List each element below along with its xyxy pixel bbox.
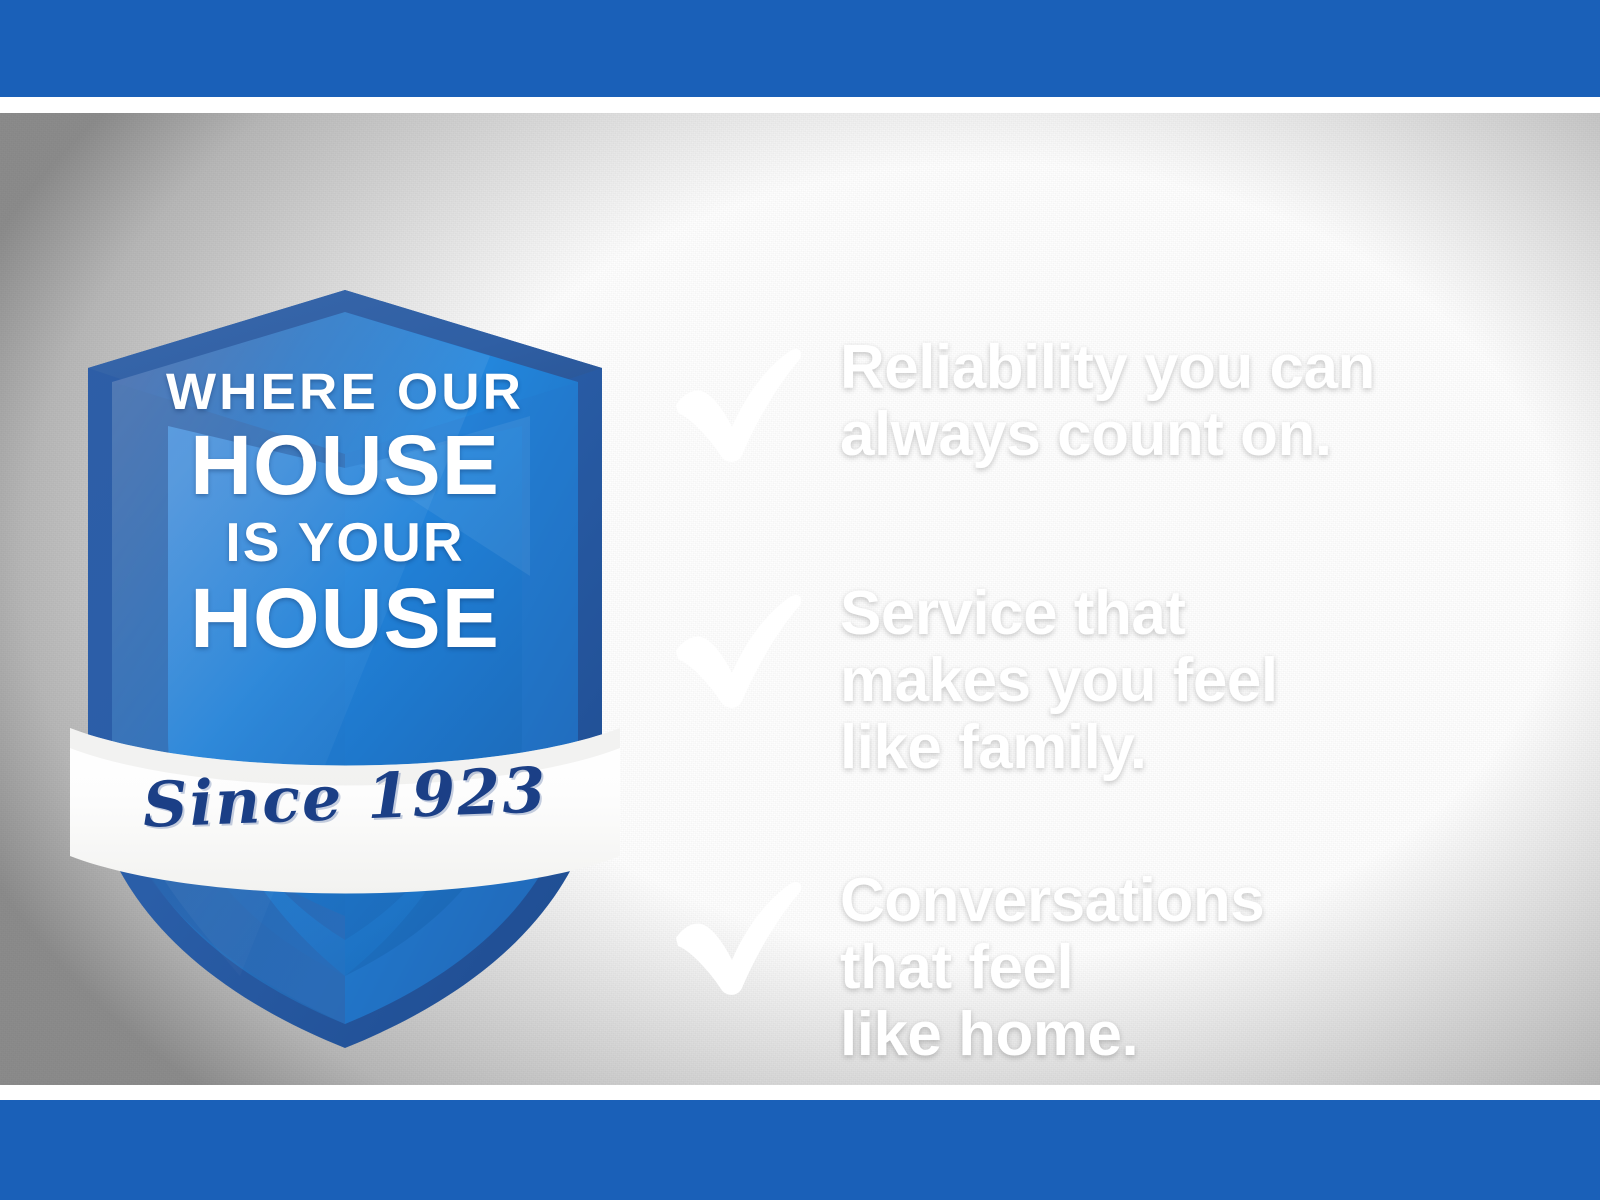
benefit-3-line-2: that feel <box>840 935 1548 1002</box>
benefits-list: Reliability you can always count on. Ser… <box>668 313 1548 1069</box>
badge-line-3: IS YOUR <box>60 515 630 570</box>
benefit-2-line-3: like family. <box>840 715 1548 782</box>
bottom-brand-bar <box>0 1100 1600 1200</box>
benefit-3-line-3: like home. <box>840 1002 1548 1069</box>
benefit-2-line-2: makes you feel <box>840 648 1548 715</box>
checkmark-icon <box>668 876 808 998</box>
badge-lockup: WHERE OUR HOUSE IS YOUR HOUSE <box>60 366 630 660</box>
benefit-1-line-1: Reliability you can <box>840 335 1548 402</box>
benefit-1-line-2: always count on. <box>840 402 1548 469</box>
benefit-2-line-1: Service that <box>840 581 1548 648</box>
badge-line-4: HOUSE <box>54 576 635 660</box>
benefit-text-1: Reliability you can always count on. <box>840 335 1548 469</box>
top-brand-bar <box>0 0 1600 97</box>
benefit-text-2: Service that makes you feel like family. <box>840 581 1548 782</box>
benefit-text-3: Conversations that feel like home. <box>840 868 1548 1069</box>
content-stage: WHERE OUR HOUSE IS YOUR HOUSE Since 1923 <box>0 113 1600 1085</box>
benefit-item-2: Service that makes you feel like family. <box>668 581 1548 782</box>
checkmark-icon <box>668 343 808 465</box>
benefit-3-line-1: Conversations <box>840 868 1548 935</box>
badge-line-2: HOUSE <box>54 423 635 507</box>
promo-graphic: WHERE OUR HOUSE IS YOUR HOUSE Since 1923 <box>0 0 1600 1200</box>
benefit-item-1: Reliability you can always count on. <box>668 335 1548 495</box>
badge-line-1: WHERE OUR <box>49 366 642 417</box>
brand-badge: WHERE OUR HOUSE IS YOUR HOUSE Since 1923 <box>60 276 630 1066</box>
benefit-item-3: Conversations that feel like home. <box>668 868 1548 1069</box>
checkmark-icon <box>668 589 808 711</box>
